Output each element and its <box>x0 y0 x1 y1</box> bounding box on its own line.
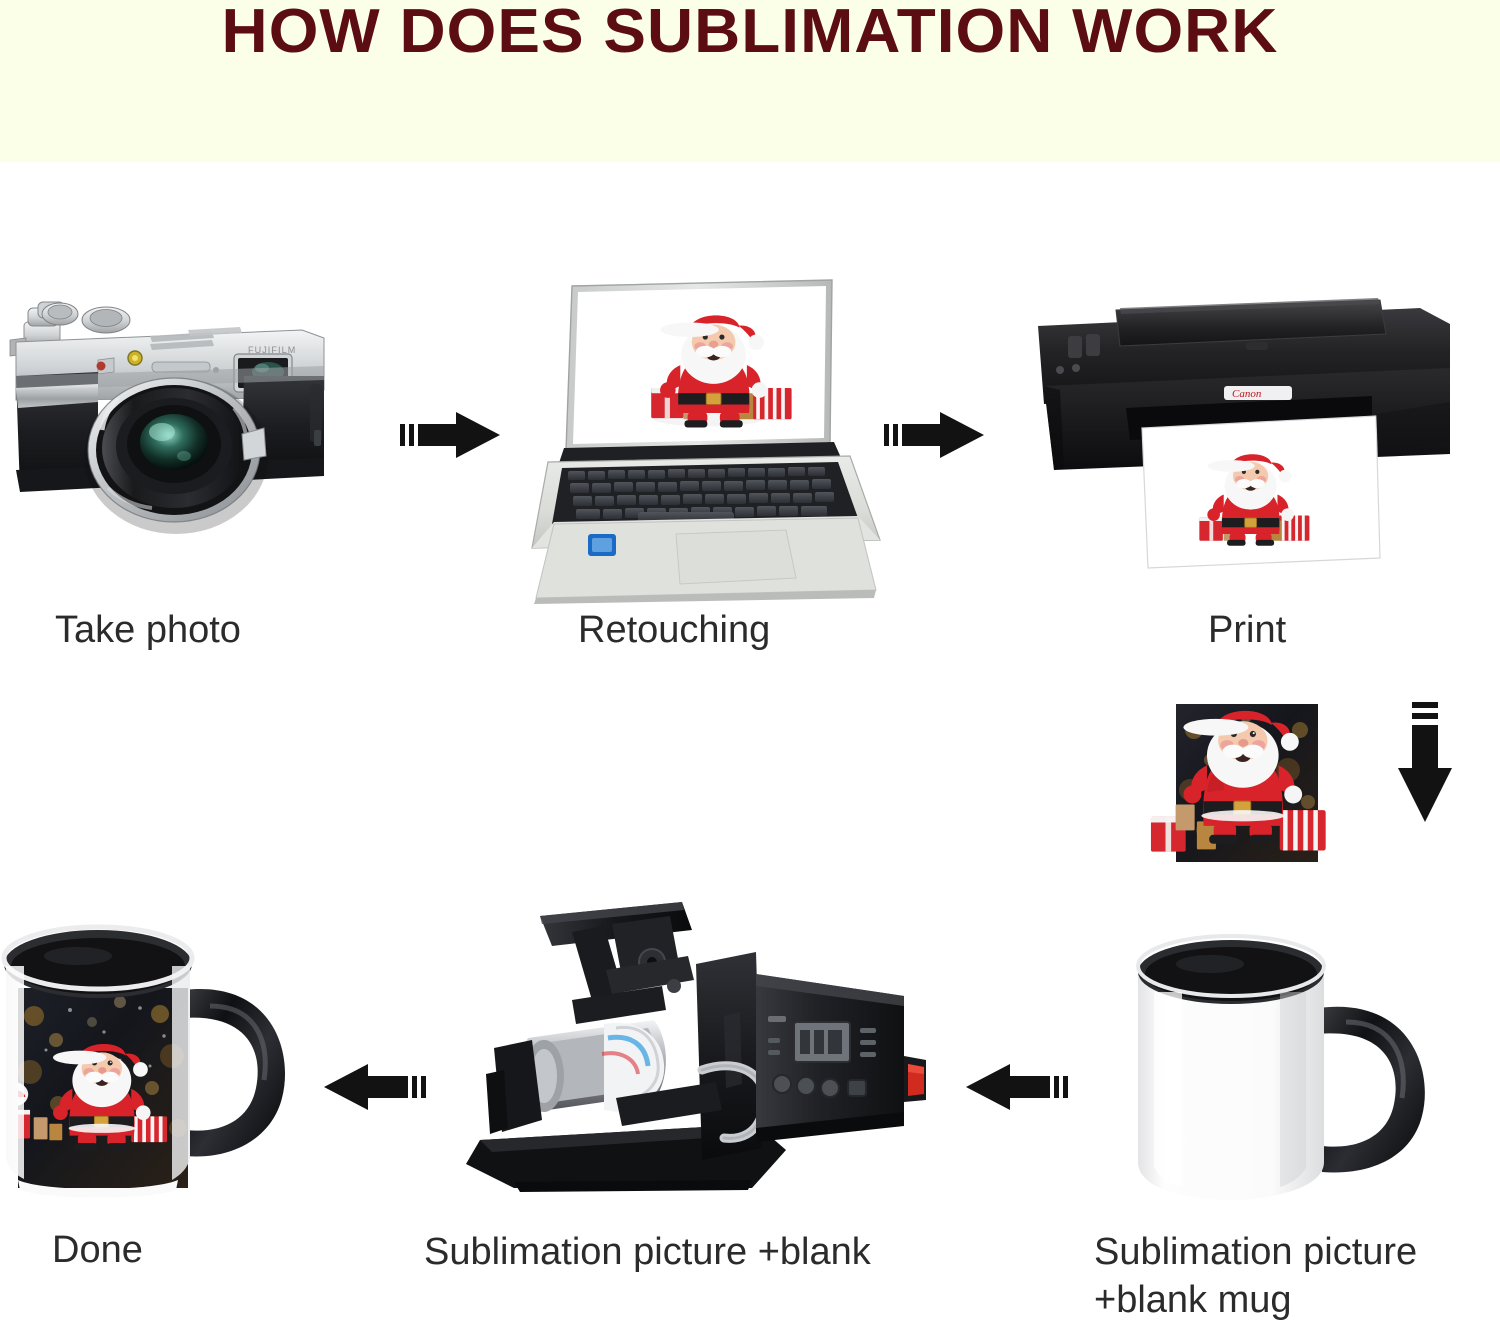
step-label-blank-mug: Sublimation picture +blank mug <box>1094 1228 1500 1324</box>
printer-brand-text: Canon <box>1232 388 1262 400</box>
arrow-camera-to-laptop <box>400 408 504 462</box>
arrow-mug-to-press <box>962 1060 1072 1114</box>
arrow-press-to-done <box>320 1060 430 1114</box>
step-label-take-photo: Take photo <box>55 606 385 654</box>
mug-heat-press-illustration <box>456 888 946 1200</box>
camera-illustration: FUJIFILM <box>2 280 352 580</box>
blank-mug-illustration <box>1110 900 1450 1212</box>
sublimation-print-illustration <box>1140 690 1372 890</box>
printer-illustration: Canon <box>1020 290 1460 582</box>
laptop-illustration <box>528 272 890 602</box>
infographic-root: HOW DOES SUBLIMATION WORK <box>0 0 1500 1331</box>
finished-mug-illustration <box>0 890 300 1210</box>
step-label-print: Print <box>1208 606 1500 654</box>
step-label-retouching: Retouching <box>578 606 938 654</box>
arrow-laptop-to-printer <box>884 408 988 462</box>
arrow-printer-to-print <box>1396 702 1472 830</box>
step-label-done: Done <box>52 1226 312 1274</box>
page-title: HOW DOES SUBLIMATION WORK <box>0 0 1500 68</box>
step-label-heat-press: Sublimation picture +blank <box>424 1228 984 1276</box>
